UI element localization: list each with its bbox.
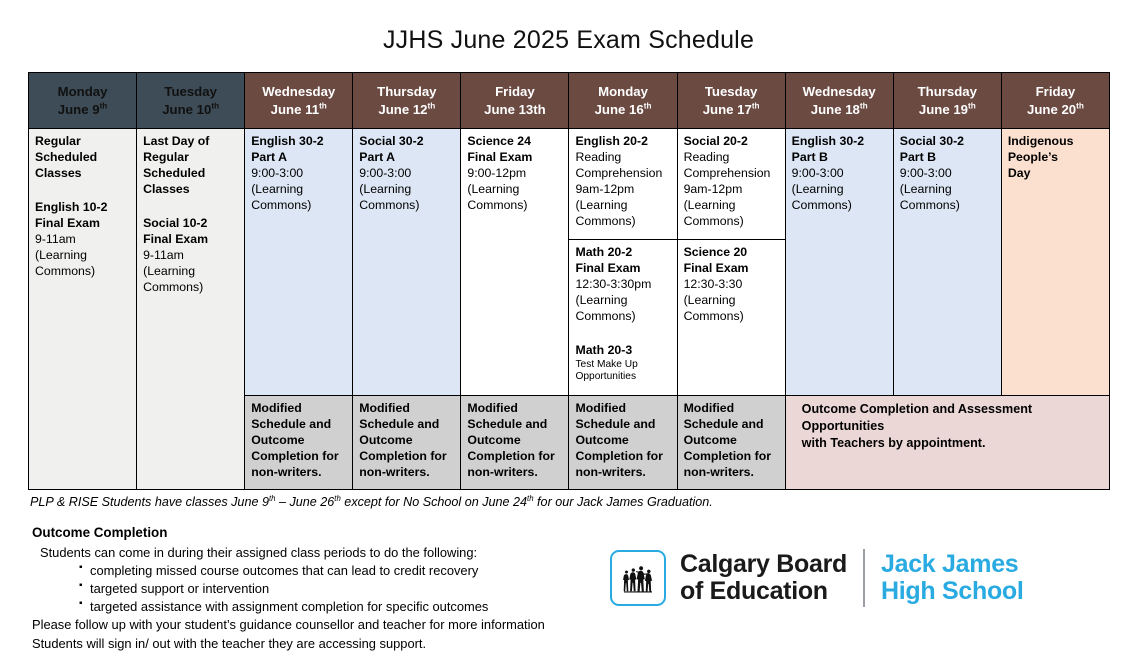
exam-time: 12:30-3:30: [684, 277, 779, 293]
header-date: June 17: [703, 102, 752, 117]
exam-time: 9:00-12pm: [467, 166, 562, 182]
header-day: Thursday: [377, 84, 436, 99]
school-wordmark-line1: Jack James: [881, 551, 1024, 578]
header-ordinal: th: [644, 101, 652, 110]
header-wed-june18: Wednesday June 18th: [785, 73, 893, 129]
header-tue-june10: Tuesday June 10th: [137, 73, 245, 129]
spacer: [35, 182, 130, 200]
exam-name: Science 20: [684, 245, 779, 261]
outcome-completion-section: Outcome Completion Students can come in …: [32, 524, 592, 652]
cell-mon-june16-morning: English 20-2 Reading Comprehension 9am-1…: [569, 129, 677, 240]
cell-modified-mon-june16: Modified Schedule and Outcome Completion…: [569, 395, 677, 489]
header-ordinal: th: [319, 101, 327, 110]
header-mon-june16: Monday June 16th: [569, 73, 677, 129]
exam-location-line1: (Learning: [575, 198, 670, 214]
cell-wed-june11: English 30-2 Part A 9:00-3:00 (Learning …: [245, 129, 353, 396]
exam-time: 9am-12pm: [684, 182, 779, 198]
header-day: Monday: [58, 84, 108, 99]
exam-name: English 30-2: [251, 134, 346, 150]
exam-location-line1: (Learning: [35, 248, 130, 264]
appointment-line1: Outcome Completion and Assessment Opport…: [792, 401, 1103, 435]
outcome-bullet-list: completing missed course outcomes that c…: [32, 562, 592, 615]
exam-time: 9am-12pm: [575, 182, 670, 198]
header-ordinal: th: [100, 101, 108, 110]
plp-rise-footnote: PLP & RISE Students have classes June 9t…: [30, 495, 713, 509]
header-tue-june17: Tuesday June 17th: [677, 73, 785, 129]
cell-modified-fri-june13: Modified Schedule and Outcome Completion…: [461, 395, 569, 489]
exam-location-line1: (Learning: [684, 293, 779, 309]
exam-descr-line1: Reading: [575, 150, 670, 166]
holiday-line2: People’s: [1008, 150, 1103, 166]
exam-name: Social 10-2: [143, 216, 238, 232]
list-item: completing missed course outcomes that c…: [90, 562, 592, 579]
outcome-heading: Outcome Completion: [32, 524, 592, 542]
regular-classes-line1: Regular: [35, 134, 130, 150]
spacer: [143, 198, 238, 216]
header-day: Tuesday: [705, 84, 758, 99]
header-ordinal: th: [211, 101, 219, 110]
exam-type: Final Exam: [575, 261, 670, 277]
regular-classes-line2: Scheduled: [35, 150, 130, 166]
cell-wed-june18: English 30-2 Part B 9:00-3:00 (Learning …: [785, 129, 893, 396]
header-fri-june20: Friday June 20th: [1001, 73, 1109, 129]
header-ordinal: th: [860, 101, 868, 110]
exam-descr-line1: Reading: [684, 150, 779, 166]
makeup-exam-name: Math 20-3: [575, 343, 670, 359]
cell-mon-june9: Regular Scheduled Classes English 10-2 F…: [29, 129, 137, 490]
cell-fri-june20-holiday: Indigenous People’s Day: [1001, 129, 1109, 396]
header-ordinal: th: [752, 101, 760, 110]
holiday-line3: Day: [1008, 166, 1103, 182]
exam-location-line2: Commons): [575, 214, 670, 230]
list-item: targeted assistance with assignment comp…: [90, 598, 592, 615]
header-date: June 10: [162, 102, 211, 117]
exam-location-line2: Commons): [467, 198, 562, 214]
exam-name: Social 30-2: [900, 134, 995, 150]
outcome-intro: Students can come in during their assign…: [32, 544, 592, 561]
exam-name: Math 20-2: [575, 245, 670, 261]
exam-location-line2: Commons): [359, 198, 454, 214]
cell-tue-june10: Last Day of Regular Scheduled Classes So…: [137, 129, 245, 490]
exam-part: Part A: [251, 150, 346, 166]
holiday-line1: Indigenous: [1008, 134, 1103, 150]
exam-time: 9:00-3:00: [900, 166, 995, 182]
exam-descr-line2: Comprehension: [575, 166, 670, 182]
header-date: June 11: [271, 102, 319, 117]
exam-type: Final Exam: [684, 261, 779, 277]
exam-location-line2: Commons): [900, 198, 995, 214]
cbe-wordmark-line2: of Education: [680, 578, 847, 605]
exam-location-line1: (Learning: [684, 198, 779, 214]
exam-type: Final Exam: [467, 150, 562, 166]
exam-location-line1: (Learning: [359, 182, 454, 198]
school-wordmark: Jack James High School: [881, 551, 1024, 605]
exam-location-line1: (Learning: [900, 182, 995, 198]
exam-name: Social 20-2: [684, 134, 779, 150]
exam-schedule-table: Monday June 9th Tuesday June 10th Wednes…: [28, 72, 1110, 490]
last-day-line1: Last Day of: [143, 134, 238, 150]
header-day: Wednesday: [803, 84, 876, 99]
header-fri-june13: Friday June 13th: [461, 73, 569, 129]
cell-modified-thu-june12: Modified Schedule and Outcome Completion…: [353, 395, 461, 489]
header-day: Tuesday: [164, 84, 217, 99]
exam-part: Part B: [792, 150, 887, 166]
cell-tue-june17-afternoon: Science 20 Final Exam 12:30-3:30 (Learni…: [677, 239, 785, 395]
exam-location-line2: Commons): [792, 198, 887, 214]
exam-descr-line2: Comprehension: [684, 166, 779, 182]
header-day: Wednesday: [262, 84, 335, 99]
makeup-note-line2: Opportunities: [575, 371, 670, 383]
exam-name: Science 24: [467, 134, 562, 150]
header-date: June 16: [595, 102, 644, 117]
header-wed-june11: Wednesday June 11th: [245, 73, 353, 129]
exam-location-line2: Commons): [35, 264, 130, 280]
exam-time: 9-11am: [143, 248, 238, 264]
exam-location-line1: (Learning: [143, 264, 238, 280]
spacer: [575, 325, 670, 343]
cbe-wordmark-line1: Calgary Board: [680, 551, 847, 578]
page-title: JJHS June 2025 Exam Schedule: [0, 26, 1137, 55]
header-mon-june9: Monday June 9th: [29, 73, 137, 129]
cell-thu-june19: Social 30-2 Part B 9:00-3:00 (Learning C…: [893, 129, 1001, 396]
exam-location-line1: (Learning: [792, 182, 887, 198]
table-header-row: Monday June 9th Tuesday June 10th Wednes…: [29, 73, 1110, 129]
exam-name: English 20-2: [575, 134, 670, 150]
exam-location-line2: Commons): [251, 198, 346, 214]
exam-time: 9-11am: [35, 232, 130, 248]
regular-classes-line3: Classes: [35, 166, 130, 182]
exam-type: Final Exam: [35, 216, 130, 232]
outcome-tail-line2: Students will sign in/ out with the teac…: [32, 635, 592, 652]
cell-mon-june16-afternoon: Math 20-2 Final Exam 12:30-3:30pm (Learn…: [569, 239, 677, 395]
cell-tue-june17-morning: Social 20-2 Reading Comprehension 9am-12…: [677, 129, 785, 240]
header-day: Thursday: [918, 84, 977, 99]
footnote-part4: for our Jack James Graduation.: [534, 495, 713, 509]
exam-name: English 30-2: [792, 134, 887, 150]
exam-name: Social 30-2: [359, 134, 454, 150]
header-ordinal: th: [1076, 101, 1084, 110]
school-wordmark-line2: High School: [881, 578, 1024, 605]
exam-location-line2: Commons): [684, 214, 779, 230]
header-thu-june19: Thursday June 19th: [893, 73, 1001, 129]
list-item: targeted support or intervention: [90, 580, 592, 597]
exam-part: Part B: [900, 150, 995, 166]
outcome-tail-line1: Please follow up with your student’s gui…: [32, 616, 592, 633]
exam-location-line1: (Learning: [467, 182, 562, 198]
footnote-part3: except for No School on June 24: [341, 495, 527, 509]
header-day: Friday: [1036, 84, 1076, 99]
exam-time: 9:00-3:00: [359, 166, 454, 182]
footnote-part2: – June 26: [275, 495, 334, 509]
exam-part: Part A: [359, 150, 454, 166]
header-date: June 18: [811, 102, 860, 117]
cell-modified-tue-june17: Modified Schedule and Outcome Completion…: [677, 395, 785, 489]
exam-location-line2: Commons): [684, 309, 779, 325]
header-thu-june12: Thursday June 12th: [353, 73, 461, 129]
header-date: June 19: [919, 102, 968, 117]
exam-name: English 10-2: [35, 200, 130, 216]
header-day: Friday: [495, 84, 535, 99]
makeup-note-line1: Test Make Up: [575, 359, 670, 371]
exam-time: 9:00-3:00: [251, 166, 346, 182]
header-date: June 12: [378, 102, 427, 117]
exam-time: 12:30-3:30pm: [575, 277, 670, 293]
exam-type: Final Exam: [143, 232, 238, 248]
exam-location-line2: Commons): [575, 309, 670, 325]
exam-location-line2: Commons): [143, 280, 238, 296]
last-day-line4: Classes: [143, 182, 238, 198]
table-body-row-upper: Regular Scheduled Classes English 10-2 F…: [29, 129, 1110, 240]
header-date: June 9: [58, 102, 100, 117]
cell-appointment-notice: Outcome Completion and Assessment Opport…: [785, 395, 1109, 489]
exam-schedule-page: JJHS June 2025 Exam Schedule Monday June…: [0, 0, 1137, 664]
cbe-wordmark: Calgary Board of Education: [680, 551, 847, 605]
header-ordinal: th: [968, 101, 976, 110]
cell-fri-june13: Science 24 Final Exam 9:00-12pm (Learnin…: [461, 129, 569, 396]
cbe-logo: Calgary Board of Education Jack James Hi…: [610, 549, 1024, 607]
exam-time: 9:00-3:00: [792, 166, 887, 182]
header-date: June 13th: [484, 102, 546, 117]
cbe-figures-icon: [610, 550, 666, 606]
cell-modified-wed-june11: Modified Schedule and Outcome Completion…: [245, 395, 353, 489]
last-day-line2: Regular: [143, 150, 238, 166]
appointment-line2: with Teachers by appointment.: [792, 435, 1103, 452]
last-day-line3: Scheduled: [143, 166, 238, 182]
logo-divider: [863, 549, 865, 607]
exam-location-line1: (Learning: [251, 182, 346, 198]
header-date: June 20: [1027, 102, 1076, 117]
footnote-part1: PLP & RISE Students have classes June 9: [30, 495, 269, 509]
header-ordinal: th: [428, 101, 436, 110]
exam-location-line1: (Learning: [575, 293, 670, 309]
header-day: Monday: [598, 84, 648, 99]
cell-thu-june12: Social 30-2 Part A 9:00-3:00 (Learning C…: [353, 129, 461, 396]
